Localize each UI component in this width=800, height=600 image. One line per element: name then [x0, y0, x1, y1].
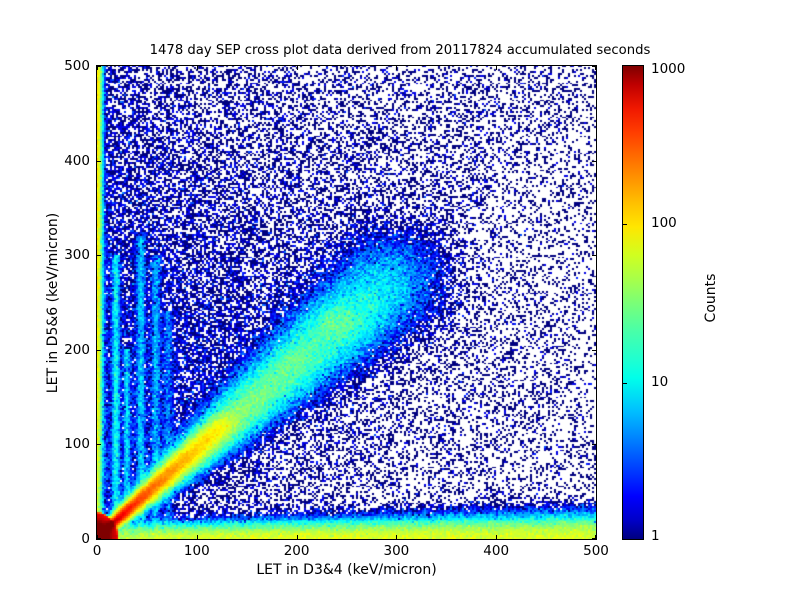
y-tick-500 — [592, 66, 596, 67]
y-tick-100 — [592, 444, 596, 445]
colorbar-tick-label-1000: 1000 — [651, 61, 685, 77]
colorbar-tick-label-1: 1 — [651, 528, 660, 544]
x-tick-400 — [496, 535, 497, 539]
y-tick-200 — [592, 350, 596, 351]
colorbar-tick-100 — [622, 224, 627, 225]
y-tick-label-200: 200 — [64, 342, 90, 358]
y-tick-0 — [592, 538, 596, 539]
y-tick-label-0: 0 — [81, 531, 90, 547]
y-tick-400 — [592, 161, 596, 162]
scatter-heatmap-canvas — [97, 66, 596, 539]
y-tick-0 — [97, 538, 101, 539]
x-axis-label: LET in D3&4 (keV/micron) — [96, 562, 597, 578]
x-tick-label-300: 300 — [384, 543, 410, 559]
x-tick-label-500: 500 — [583, 543, 609, 559]
colorbar-tick-label-10: 10 — [651, 374, 668, 390]
x-tick-label-400: 400 — [483, 543, 509, 559]
x-tick-100 — [197, 535, 198, 539]
y-tick-label-400: 400 — [64, 153, 90, 169]
x-tick-label-200: 200 — [284, 543, 310, 559]
y-tick-200 — [97, 350, 101, 351]
y-tick-label-100: 100 — [64, 436, 90, 452]
x-tick-400 — [496, 66, 497, 70]
colorbar-tick-label-100: 100 — [651, 215, 677, 231]
x-tick-200 — [297, 535, 298, 539]
x-tick-300 — [396, 66, 397, 70]
y-tick-label-500: 500 — [64, 58, 90, 74]
x-tick-label-100: 100 — [184, 543, 210, 559]
x-tick-300 — [396, 535, 397, 539]
y-tick-400 — [97, 161, 101, 162]
x-tick-label-0: 0 — [93, 543, 102, 559]
y-axis-label: LET in D5&6 (keV/micron) — [45, 93, 61, 513]
y-tick-300 — [97, 255, 101, 256]
title-line-1: 1478 day SEP cross plot data derived fro… — [0, 42, 800, 59]
colorbar-tick-10 — [622, 383, 627, 384]
y-tick-300 — [592, 255, 596, 256]
x-tick-200 — [297, 66, 298, 70]
figure-canvas: 1478 day SEP cross plot data derived fro… — [0, 0, 800, 600]
plot-area[interactable] — [96, 65, 597, 540]
colorbar-label: Counts — [703, 223, 719, 373]
x-tick-100 — [197, 66, 198, 70]
colorbar[interactable] — [622, 65, 644, 540]
y-tick-100 — [97, 444, 101, 445]
y-tick-label-300: 300 — [64, 247, 90, 263]
y-tick-500 — [97, 66, 101, 67]
